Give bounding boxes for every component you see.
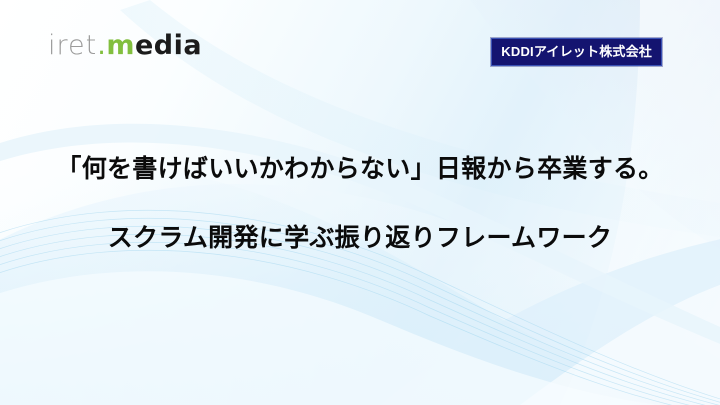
logo-text-m: m [106,30,135,61]
logo-text-edia: edia [135,30,202,61]
headline-block: 「何を書けばいいかわからない」日報から卒業する。 スクラム開発に学ぶ振り返りフレ… [0,152,720,255]
headline-line-1: 「何を書けばいいかわからない」日報から卒業する。 [0,152,720,186]
headline-line-2: スクラム開発に学ぶ振り返りフレームワーク [0,221,720,255]
logo-text-dot: . [97,30,106,61]
company-name-badge: KDDIアイレット株式会社 [491,38,662,66]
iret-media-logo[interactable]: iret.media [48,32,202,59]
slide-canvas: iret.media KDDIアイレット株式会社 「何を書けばいいかわからない」… [0,0,720,405]
logo-text-iret: iret [48,30,97,61]
